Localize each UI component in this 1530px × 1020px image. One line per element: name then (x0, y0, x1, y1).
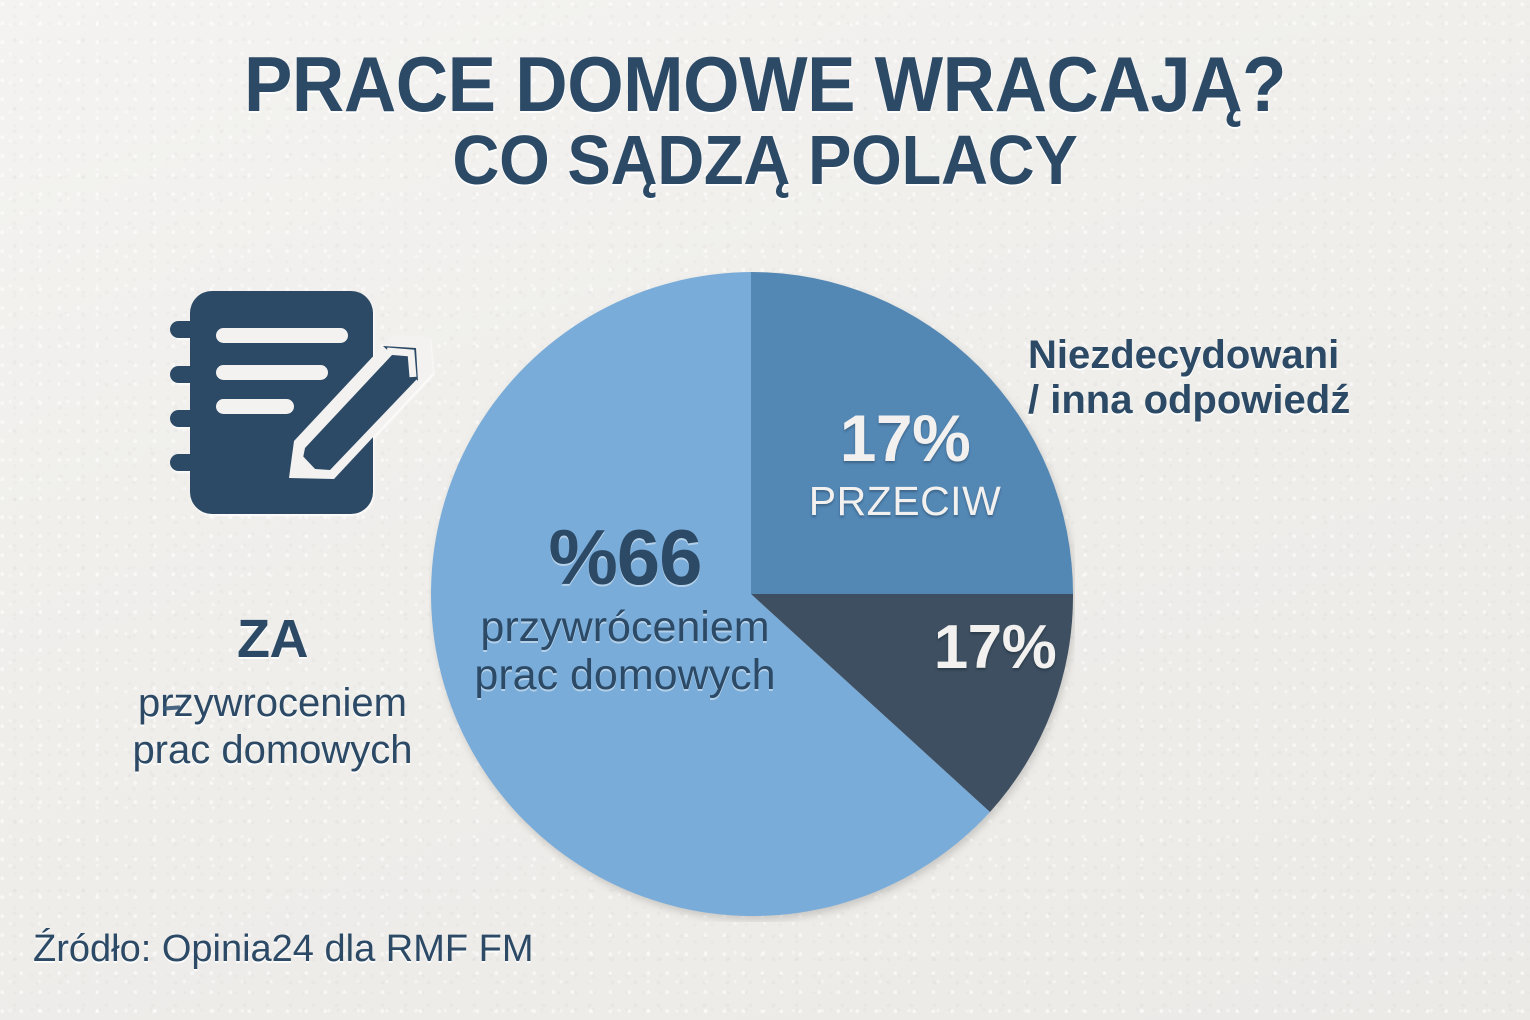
pie-sublabel-za-line2: prac domowych (455, 651, 795, 700)
pie-value-przeciw: 17% (780, 405, 1030, 471)
pie-sublabel-przeciw: PRZECIW (780, 481, 1030, 522)
page-title-line-1: PRACE DOMOWE WRACAJĄ? (54, 46, 1477, 122)
notebook-with-pencil-icon (168, 282, 436, 525)
callout-niezdecydowani: Niezdecydowani / inna odpowiedź (1028, 333, 1428, 423)
callout-za: ZA przywroceniem prac domowych (100, 612, 445, 774)
pie-sublabel-za-line1: przywróceniem (455, 603, 795, 652)
callout-za-line2: prac domowych (100, 727, 445, 774)
pie-value-za: %66 (455, 520, 795, 595)
pie-label-za: %66 przywróceniem prac domowych (455, 520, 795, 700)
pie-value-niezdecydowani: 17% (880, 617, 1110, 679)
callout-za-title: ZA (100, 612, 445, 666)
pie-label-przeciw: 17% PRZECIW (780, 405, 1030, 522)
source-attribution: Źródło: Opinia24 dla RMF FM (33, 928, 534, 971)
page-title-line-2: CO SĄDZĄ POLACY (54, 124, 1477, 198)
callout-za-line1: przywroceniem (100, 680, 445, 727)
headline-block: PRACE DOMOWE WRACAJĄ? CO SĄDZĄ POLACY (0, 46, 1530, 198)
infographic-canvas: PRACE DOMOWE WRACAJĄ? CO SĄDZĄ POLACY (0, 0, 1530, 1020)
callout-niezdecydowani-line2: / inna odpowiedź (1028, 378, 1428, 423)
callout-niezdecydowani-line1: Niezdecydowani (1028, 333, 1339, 377)
